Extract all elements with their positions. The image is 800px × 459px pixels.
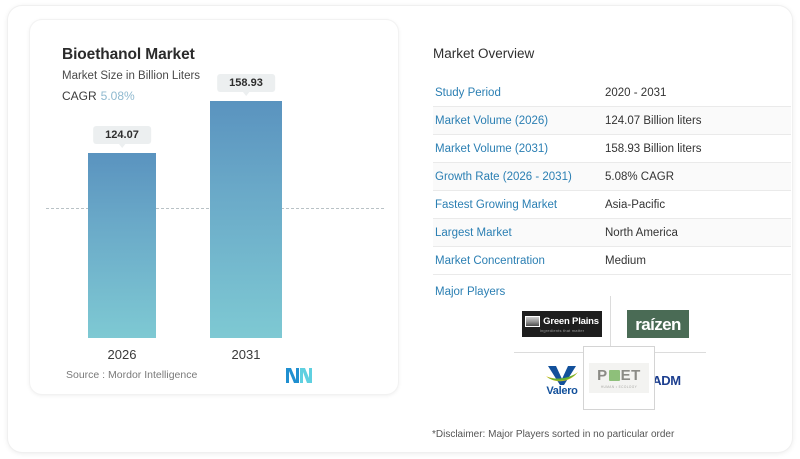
bar-value-label-2026: 124.07 xyxy=(93,126,151,144)
adm-name: ADM xyxy=(652,373,680,388)
overview-key: Market Concentration xyxy=(433,255,605,267)
poet-letter-p: P xyxy=(597,368,608,383)
overview-value: Medium xyxy=(605,255,646,267)
report-card: Bioethanol Market Market Size in Billion… xyxy=(8,6,792,452)
mordor-intelligence-logo xyxy=(286,366,312,383)
valero-name: Valero xyxy=(546,385,577,397)
overview-row-market-volume-2026: Market Volume (2026) 124.07 Billion lite… xyxy=(433,107,791,135)
bar-2031[interactable] xyxy=(210,101,282,338)
green-plains-mark-icon xyxy=(525,316,540,327)
poet-logo: PET HUMAN • ECOLOGY xyxy=(589,363,649,393)
overview-key: Market Volume (2026) xyxy=(433,115,605,127)
overview-row-growth-rate: Growth Rate (2026 - 2031) 5.08% CAGR xyxy=(433,163,791,191)
overview-key: Fastest Growing Market xyxy=(433,199,605,211)
poet-letter-o-icon xyxy=(609,370,620,381)
x-axis-tick-2026: 2026 xyxy=(108,347,137,362)
green-plains-row: Green Plains xyxy=(525,316,599,327)
valero-v-icon xyxy=(544,364,580,386)
overview-row-fastest-growing-market: Fastest Growing Market Asia-Pacific xyxy=(433,191,791,219)
bar-group-2026: 124.07 2026 xyxy=(88,153,156,338)
raizen-logo: raízen xyxy=(627,310,689,338)
green-plains-name: Green Plains xyxy=(543,316,599,327)
overview-value: 5.08% CAGR xyxy=(605,171,674,183)
major-players-logo-grid: Green Plains Ingredients that matter raí… xyxy=(514,296,706,408)
overview-row-study-period: Study Period 2020 - 2031 xyxy=(433,79,791,107)
logo-cell-poet[interactable]: PET HUMAN • ECOLOGY xyxy=(583,346,655,410)
disclaimer-text: *Disclaimer: Major Players sorted in no … xyxy=(432,429,674,440)
overview-key: Market Volume (2031) xyxy=(433,143,605,155)
market-overview-panel: Market Overview Study Period 2020 - 2031… xyxy=(433,46,791,298)
poet-tagline: HUMAN • ECOLOGY xyxy=(601,385,637,389)
logo-cell-raizen[interactable]: raízen xyxy=(610,296,706,352)
overview-row-market-volume-2031: Market Volume (2031) 158.93 Billion lite… xyxy=(433,135,791,163)
overview-title: Market Overview xyxy=(433,46,791,61)
overview-value: Asia-Pacific xyxy=(605,199,665,211)
source-label: Source : Mordor Intelligence xyxy=(66,369,197,381)
bar-group-2031: 158.93 2031 xyxy=(210,101,282,338)
bar-value-label-2031: 158.93 xyxy=(217,74,275,92)
overview-key: Largest Market xyxy=(433,227,605,239)
bar-2026[interactable] xyxy=(88,153,156,338)
overview-row-market-concentration: Market Concentration Medium xyxy=(433,247,791,275)
green-plains-logo: Green Plains Ingredients that matter xyxy=(522,311,602,337)
raizen-name: raízen xyxy=(635,316,681,333)
overview-key: Growth Rate (2026 - 2031) xyxy=(433,171,605,183)
overview-value: 158.93 Billion liters xyxy=(605,143,702,155)
green-plains-tagline: Ingredients that matter xyxy=(540,328,585,333)
logo-cell-green-plains[interactable]: Green Plains Ingredients that matter xyxy=(514,296,610,352)
poet-letters-et: ET xyxy=(621,368,641,383)
overview-value: North America xyxy=(605,227,678,239)
overview-value: 124.07 Billion liters xyxy=(605,115,702,127)
overview-row-largest-market: Largest Market North America xyxy=(433,219,791,247)
bar-chart-plot-area: 124.07 2026 158.93 2031 xyxy=(30,20,398,394)
overview-key: Study Period xyxy=(433,87,605,99)
poet-name: PET xyxy=(597,368,641,383)
overview-value: 2020 - 2031 xyxy=(605,87,666,99)
x-axis-tick-2031: 2031 xyxy=(232,347,261,362)
